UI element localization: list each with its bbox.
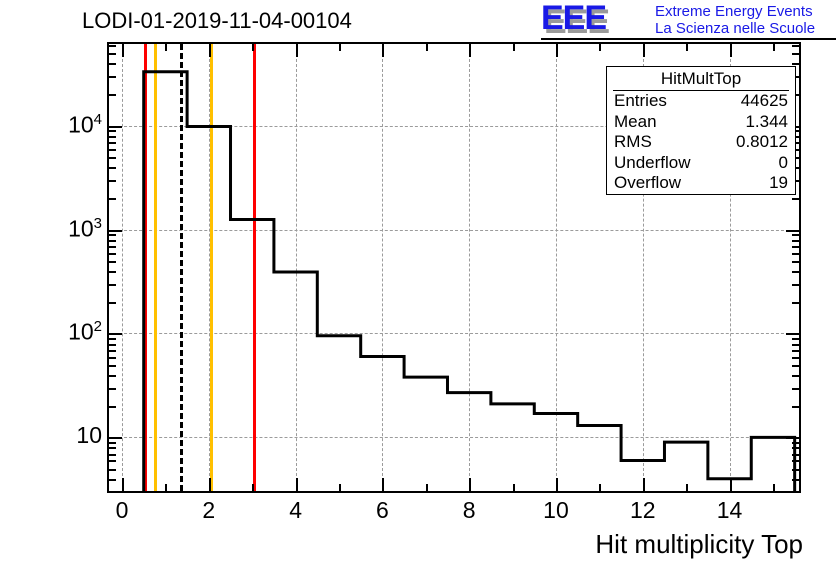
stats-row: RMS0.8012 [607,132,795,153]
x-axis-tick-label: 6 [376,497,389,524]
y-tick-minor [109,180,116,182]
plot-page: LODI-01-2019-11-04-00104 EEE Extreme Ene… [0,0,836,572]
y-tick-minor [109,261,116,263]
y-tick-minor [109,388,116,390]
x-tick-major-top [730,44,732,57]
y-axis-tick-label: 103 [68,215,102,243]
x-tick-major [209,478,211,491]
y-tick-minor-right [792,350,799,352]
y-tick-minor-right [792,454,799,456]
y-tick-minor [109,240,116,242]
y-tick-minor [109,344,116,346]
y-tick-minor [109,447,116,449]
y-tick-minor-right [792,357,799,359]
y-tick-minor-right [792,284,799,286]
x-axis-tick-label: 14 [717,497,743,524]
y-tick-minor-right [792,338,799,340]
stats-row-value: 19 [769,173,788,194]
eee-logo-line2: La Scienza nelle Scuole [655,20,815,37]
x-tick-minor-top [513,44,515,51]
y-tick-major-right [786,333,799,335]
y-tick-minor [109,45,116,47]
x-axis-tick-label: 2 [202,497,215,524]
y-tick-minor [109,76,116,78]
y-axis-tick-label: 102 [68,318,102,346]
x-tick-minor [513,484,515,491]
x-tick-minor-top [773,44,775,51]
y-tick-minor-right [792,388,799,390]
header-rule [541,38,836,40]
x-tick-minor [773,484,775,491]
y-tick-minor [109,198,116,200]
y-tick-minor [109,357,116,359]
eee-logo-mark: EEE [541,2,651,36]
x-tick-major [122,478,124,491]
x-tick-minor-top [599,44,601,51]
y-tick-minor-right [792,365,799,367]
x-tick-major-top [209,44,211,57]
y-tick-minor [109,246,116,248]
eee-logo: EEE Extreme Energy Events La Scienza nel… [541,2,833,38]
x-tick-minor [686,484,688,491]
stats-row-key: Entries [614,91,667,112]
x-tick-minor [599,484,601,491]
y-axis-labels: 10102103104 [40,42,102,493]
y-tick-major-right [786,437,799,439]
y-tick-minor [109,350,116,352]
y-tick-minor-right [792,442,799,444]
x-axis-title: Hit multiplicity Top [595,529,803,560]
stats-title: HitMultTop [613,67,789,91]
x-tick-major-top [469,44,471,57]
x-tick-major-top [382,44,384,57]
y-tick-minor-right [792,344,799,346]
y-tick-major [109,437,122,439]
x-tick-major-top [296,44,298,57]
y-tick-major [109,126,122,128]
y-tick-minor [109,469,116,471]
x-tick-minor [165,484,167,491]
x-tick-minor-top [339,44,341,51]
y-tick-minor-right [792,45,799,47]
x-tick-major-top [122,44,124,57]
y-tick-minor [109,454,116,456]
stats-row: Entries44625 [607,91,795,112]
y-tick-minor [109,284,116,286]
y-tick-minor-right [792,479,799,481]
x-tick-major [296,478,298,491]
x-tick-major [556,478,558,491]
y-tick-minor-right [792,198,799,200]
x-tick-minor [252,484,254,491]
stats-row-value: 0 [779,153,788,174]
stats-row: Overflow19 [607,173,795,194]
stats-row-key: Mean [614,112,657,133]
stats-row-value: 1.344 [745,112,788,133]
x-axis-tick-label: 0 [116,497,129,524]
x-tick-minor-top [686,44,688,51]
y-tick-minor-right [792,406,799,408]
x-tick-minor-top [165,44,167,51]
y-tick-minor [109,142,116,144]
x-tick-minor-top [426,44,428,51]
x-axis-labels: 02468101214 [107,497,801,527]
y-tick-minor [109,302,116,304]
y-tick-major [109,333,122,335]
x-axis-tick-label: 10 [543,497,569,524]
x-axis-tick-label: 8 [463,497,476,524]
stats-row-key: Overflow [614,173,681,194]
y-tick-minor [109,130,116,132]
y-tick-minor-right [792,240,799,242]
y-tick-minor-right [792,234,799,236]
stats-row-key: RMS [614,132,652,153]
y-tick-major [109,230,122,232]
x-tick-minor [339,484,341,491]
y-tick-minor [109,375,116,377]
y-axis-tick-label: 10 [76,422,102,449]
y-tick-minor [109,149,116,151]
stats-row-key: Underflow [614,153,691,174]
stats-row: Underflow0 [607,153,795,174]
stats-rows: Entries44625Mean1.344RMS0.8012Underflow0… [607,91,795,194]
y-tick-minor [109,234,116,236]
y-tick-minor-right [792,253,799,255]
y-tick-minor-right [792,63,799,65]
y-tick-minor [109,94,116,96]
y-tick-minor [109,253,116,255]
y-tick-minor [109,338,116,340]
x-tick-minor-top [252,44,254,51]
y-tick-minor [109,53,116,55]
stats-row: Mean1.344 [607,112,795,133]
page-title: LODI-01-2019-11-04-00104 [82,8,352,34]
x-tick-major [643,478,645,491]
y-tick-minor-right [792,53,799,55]
y-tick-minor [109,479,116,481]
y-tick-minor [109,460,116,462]
y-tick-minor-right [792,261,799,263]
y-tick-major-right [786,230,799,232]
y-tick-minor-right [792,246,799,248]
y-tick-minor [109,63,116,65]
y-tick-minor-right [792,460,799,462]
x-tick-major [730,478,732,491]
x-axis-tick-label: 4 [289,497,302,524]
x-tick-major [469,478,471,491]
y-tick-minor-right [792,447,799,449]
y-tick-minor-right [792,271,799,273]
y-tick-minor [109,442,116,444]
y-tick-minor [109,136,116,138]
x-tick-major-top [643,44,645,57]
x-tick-minor [426,484,428,491]
y-tick-minor [109,271,116,273]
y-tick-minor-right [792,469,799,471]
x-tick-major [382,478,384,491]
y-tick-minor-right [792,375,799,377]
stats-row-value: 0.8012 [736,132,788,153]
y-tick-minor [109,157,116,159]
y-tick-minor [109,406,116,408]
y-tick-minor [109,167,116,169]
stats-box: HitMultTop Entries44625Mean1.344RMS0.801… [606,66,796,195]
x-axis-tick-label: 12 [630,497,656,524]
y-axis-tick-label: 104 [68,111,102,139]
y-tick-minor-right [792,302,799,304]
y-tick-minor [109,365,116,367]
stats-row-value: 44625 [741,91,788,112]
eee-logo-line1: Extreme Energy Events [655,3,813,20]
x-tick-major-top [556,44,558,57]
